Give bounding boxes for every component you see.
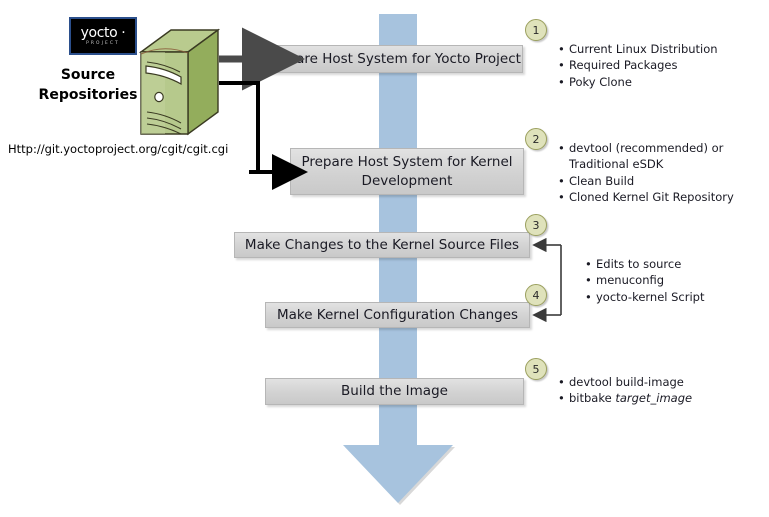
note-item: devtool (recommended) or Traditional eSD… xyxy=(569,140,761,173)
notes-step-1: Current Linux Distribution Required Pack… xyxy=(556,41,761,90)
note-item: Edits to source xyxy=(596,256,768,272)
notes-kernel-changes: Edits to source menuconfig yocto-kernel … xyxy=(583,256,768,305)
step-number-1: 1 xyxy=(525,19,547,41)
step-number-5: 5 xyxy=(525,358,547,380)
note-item: devtool build-image xyxy=(569,374,761,390)
process-box-step-5[interactable]: Build the Image xyxy=(265,378,524,405)
yocto-kernel-workflow-diagram: yocto · PROJECT Source Repo xyxy=(0,0,769,517)
yocto-logo-subtitle: PROJECT xyxy=(86,42,120,46)
note-item: yocto-kernel Script xyxy=(596,289,768,305)
flow-arrowhead-icon xyxy=(343,445,453,503)
step-number-2: 2 xyxy=(525,128,547,150)
note-item: Cloned Kernel Git Repository xyxy=(569,189,761,205)
target-image-term: target_image xyxy=(615,391,692,405)
notes-step-2: devtool (recommended) or Traditional eSD… xyxy=(556,140,761,205)
note-item: Required Packages xyxy=(569,57,761,73)
step-number-3: 3 xyxy=(525,214,547,236)
yocto-project-logo: yocto · PROJECT xyxy=(69,17,137,55)
process-box-step-2[interactable]: Prepare Host System for Kernel Developme… xyxy=(290,148,524,195)
process-box-step-1[interactable]: Prepare Host System for Yocto Project xyxy=(264,45,523,73)
process-box-step-4[interactable]: Make Kernel Configuration Changes xyxy=(265,302,530,328)
note-item: bitbake target_image xyxy=(569,390,761,406)
source-repositories-url: Http://git.yoctoproject.org/cgit/cgit.cg… xyxy=(8,142,228,156)
notes-step-5: devtool build-image bitbake target_image xyxy=(556,374,761,407)
note-item: Clean Build xyxy=(569,173,761,189)
bitbake-prefix: bitbake xyxy=(569,391,615,405)
server-tower-icon xyxy=(137,28,221,138)
source-repositories-label: Source Repositories xyxy=(33,65,143,106)
note-item: menuconfig xyxy=(596,272,768,288)
step-number-4: 4 xyxy=(525,284,547,306)
note-item: Poky Clone xyxy=(569,74,761,90)
note-item: Current Linux Distribution xyxy=(569,41,761,57)
process-box-step-3[interactable]: Make Changes to the Kernel Source Files xyxy=(234,232,530,258)
yocto-logo-word: yocto · xyxy=(81,26,126,40)
